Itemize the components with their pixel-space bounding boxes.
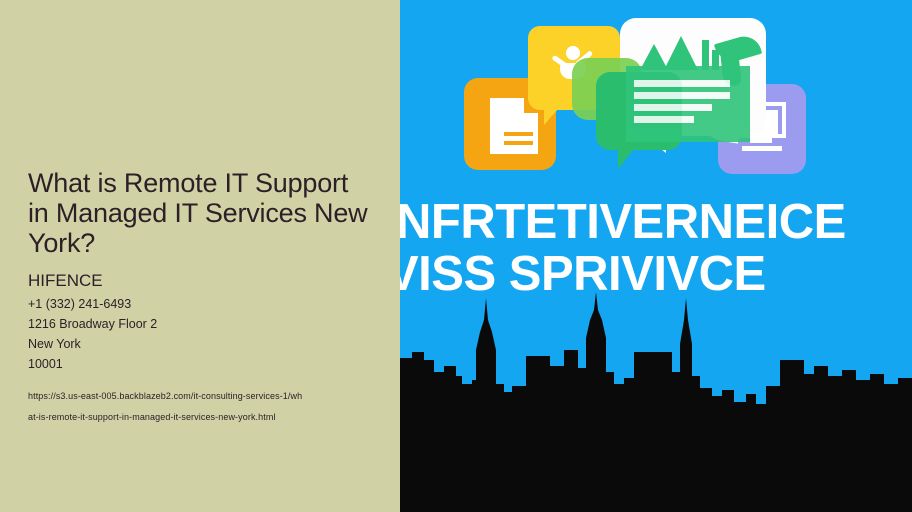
right-image-panel: NFRTETIVERNEICE VISS SPRIVIVCE: [400, 0, 912, 512]
poster-headline-line-1: NFRTETIVERNEICE: [400, 196, 912, 248]
address-street: 1216 Broadway Floor 2: [28, 314, 373, 334]
text-line: [634, 80, 730, 87]
source-url-line-1: https://s3.us-east-005.backblazeb2.com/i…: [28, 386, 373, 407]
page-title: What is Remote IT Support in Managed IT …: [28, 168, 373, 258]
person-head-icon: [566, 46, 580, 60]
text-lines-icon: [634, 80, 738, 128]
info-text-block: What is Remote IT Support in Managed IT …: [28, 168, 373, 428]
source-url-line-2: at-is-remote-it-support-in-managed-it-se…: [28, 407, 373, 428]
address-zip: 10001: [28, 354, 373, 374]
doc-rule-line: [504, 141, 533, 145]
doc-rule-line: [504, 132, 533, 136]
left-info-panel: What is Remote IT Support in Managed IT …: [0, 0, 400, 512]
promo-card-canvas: What is Remote IT Support in Managed IT …: [0, 0, 912, 512]
monitor-base-icon: [742, 146, 782, 151]
source-url: https://s3.us-east-005.backblazeb2.com/i…: [28, 386, 373, 428]
brand-name: HIFENCE: [28, 270, 373, 291]
text-line: [634, 92, 730, 99]
text-line: [634, 116, 694, 123]
icon-cluster: [400, 0, 912, 200]
phone-number: +1 (332) 241-6493: [28, 294, 373, 314]
text-lines-panel-icon: [626, 66, 750, 142]
city-skyline-silhouette: [400, 280, 912, 512]
address-city: New York: [28, 334, 373, 354]
text-line: [634, 104, 712, 111]
monitor-stand-icon: [750, 138, 772, 143]
chart-peak-icon: [664, 36, 698, 70]
